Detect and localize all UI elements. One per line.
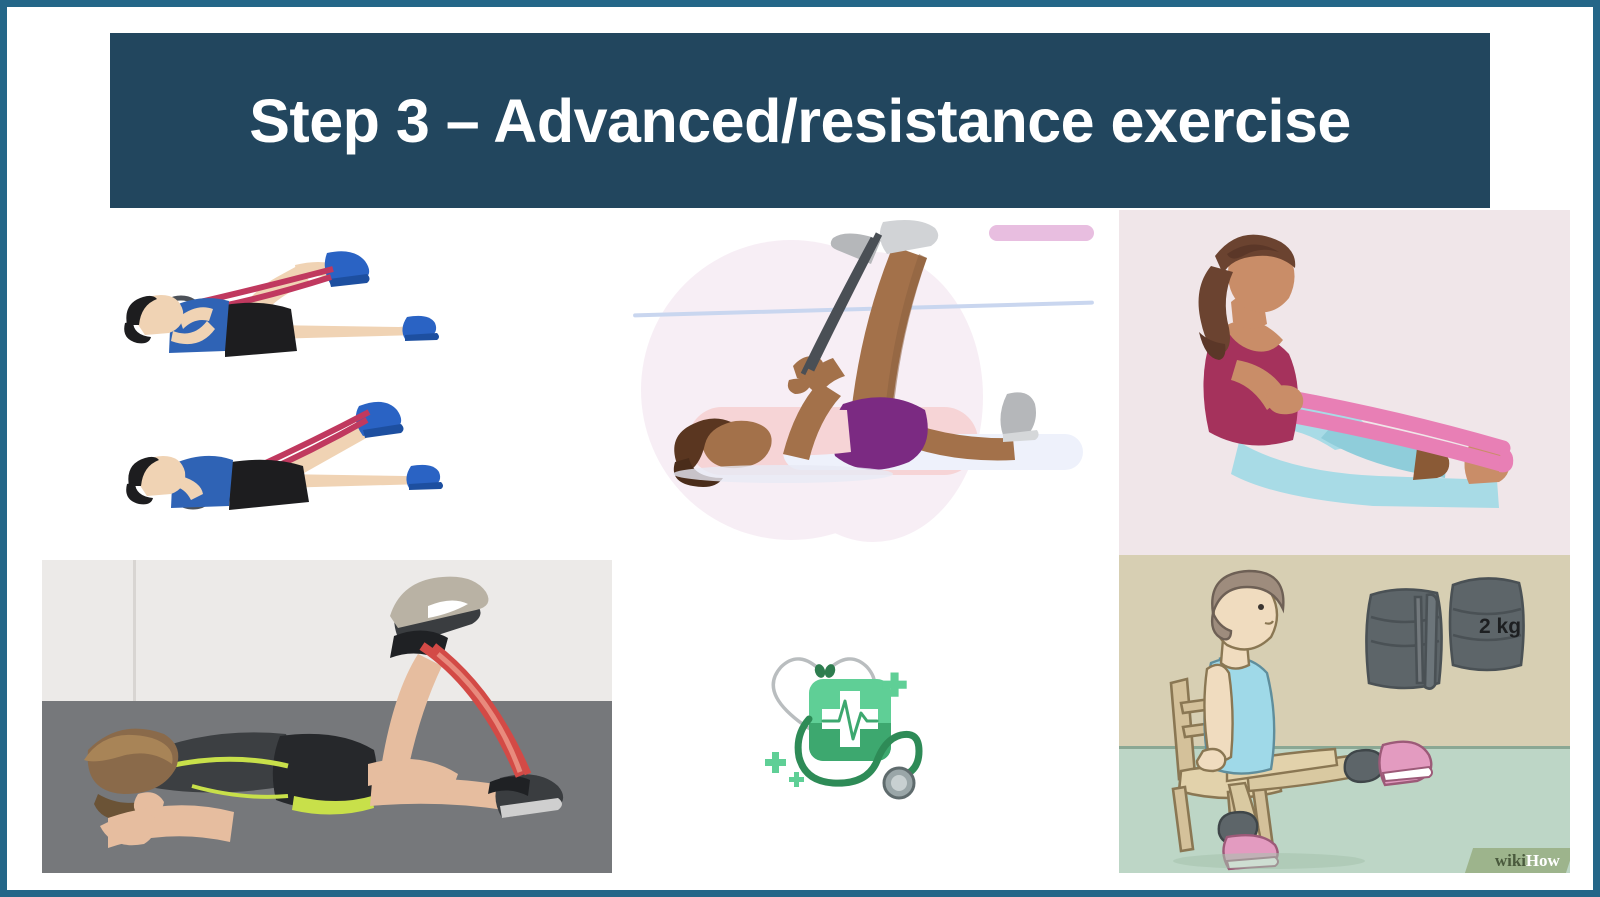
panel-seated-resistance-band [1119,210,1570,555]
slide-canvas: Step 3 – Advanced/resistance exercise [0,0,1600,897]
supine-band-pose-top [119,247,459,392]
panel-supine-strap-stretch [633,212,1094,553]
wikihow-wiki-text: wiki [1495,851,1526,871]
panel-ankle-weight-leg-extension: 2 kg [1119,555,1570,873]
panel-supine-resistance-band [119,247,459,537]
seated-band-figure [1119,210,1570,555]
medical-cross-stethoscope-icon [747,635,937,800]
wikihow-watermark: wikiHow [1465,848,1570,873]
panel-prone-hamstring-curl-photo [42,560,612,873]
title-banner: Step 3 – Advanced/resistance exercise [110,33,1490,208]
page-title: Step 3 – Advanced/resistance exercise [249,86,1351,156]
prone-curl-subject [42,560,612,873]
weight-label-2kg: 2 kg [1479,615,1521,638]
panel-medical-icon [747,635,937,800]
supine-band-pose-bottom [119,386,459,531]
ankle-weight-figure: 2 kg [1119,555,1570,873]
strap-stretch-figure [633,212,1094,553]
wikihow-how-text: How [1526,851,1560,871]
